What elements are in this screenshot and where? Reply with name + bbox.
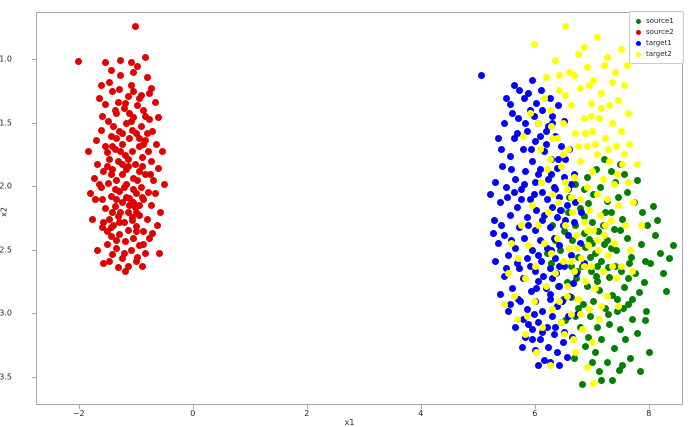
data-point <box>159 148 166 155</box>
y-tick-mark <box>32 186 36 187</box>
data-point <box>498 222 505 229</box>
data-point <box>515 115 522 122</box>
data-point <box>106 156 113 163</box>
data-point <box>138 184 145 191</box>
data-point <box>539 189 546 196</box>
data-point <box>608 217 615 224</box>
data-point <box>604 359 611 366</box>
legend-item-target2[interactable]: target2 <box>633 49 680 59</box>
data-point <box>573 232 580 239</box>
y-tick-label: −3.0 <box>0 309 12 318</box>
data-point <box>641 279 648 286</box>
data-point <box>537 133 544 140</box>
data-point <box>126 135 133 142</box>
x-tick-label: −2 <box>73 409 85 418</box>
data-point <box>609 120 616 127</box>
data-point <box>594 34 601 41</box>
data-point <box>660 270 667 277</box>
y-tick-label: −1.0 <box>0 55 12 64</box>
data-point <box>543 283 550 290</box>
y-tick-label: −3.5 <box>0 373 12 382</box>
data-point <box>512 324 519 331</box>
data-point <box>145 189 152 196</box>
data-point <box>625 179 632 186</box>
data-point <box>581 44 588 51</box>
data-point <box>581 219 588 226</box>
data-point <box>121 184 128 191</box>
data-point <box>98 82 105 89</box>
data-point <box>652 232 659 239</box>
data-point <box>612 69 619 76</box>
data-point <box>618 263 625 270</box>
data-point <box>611 345 618 352</box>
data-point <box>104 163 111 170</box>
legend-marker-icon <box>636 30 641 35</box>
data-point <box>579 381 586 388</box>
data-point <box>528 146 535 153</box>
data-point <box>594 237 601 244</box>
data-point <box>155 165 162 172</box>
data-point <box>104 149 111 156</box>
data-point <box>537 336 544 343</box>
data-point <box>539 308 546 315</box>
data-point <box>564 293 571 300</box>
data-point <box>566 245 573 252</box>
data-point <box>571 268 578 275</box>
data-point <box>554 214 561 221</box>
data-point <box>636 289 643 296</box>
data-point <box>562 179 569 186</box>
data-point <box>122 268 129 275</box>
data-point <box>622 222 629 229</box>
data-point <box>617 326 624 333</box>
data-point <box>614 296 621 303</box>
scatter-plot-axes <box>36 12 683 405</box>
data-point <box>541 240 548 247</box>
data-point <box>558 163 565 170</box>
data-point <box>605 311 612 318</box>
data-point <box>128 247 135 254</box>
x-tick-mark <box>79 405 80 409</box>
data-point <box>595 247 602 254</box>
data-point <box>152 190 159 197</box>
data-point <box>543 141 550 148</box>
data-point <box>150 177 157 184</box>
data-point <box>564 186 571 193</box>
data-point <box>609 263 616 270</box>
legend-marker-icon <box>636 52 641 57</box>
data-point <box>560 258 567 265</box>
data-point <box>112 186 119 193</box>
data-point <box>605 252 612 259</box>
x-tick-mark <box>193 405 194 409</box>
data-point <box>611 181 618 188</box>
data-point <box>529 158 536 165</box>
data-point <box>639 209 646 216</box>
data-point <box>132 23 139 30</box>
data-point <box>629 268 636 275</box>
data-point <box>144 216 151 223</box>
data-point <box>508 166 515 173</box>
data-point <box>113 177 120 184</box>
data-point <box>554 349 561 356</box>
data-point <box>588 263 595 270</box>
data-point <box>524 255 531 262</box>
data-point <box>117 57 124 64</box>
data-point <box>125 156 132 163</box>
data-point <box>547 107 554 114</box>
data-point <box>106 79 113 86</box>
data-point <box>609 79 616 86</box>
data-point <box>503 95 510 102</box>
data-point <box>629 316 636 323</box>
data-point <box>529 77 536 84</box>
data-point <box>644 222 651 229</box>
data-point <box>621 82 628 89</box>
data-point <box>518 222 525 229</box>
data-point <box>654 217 661 224</box>
data-point <box>161 181 168 188</box>
data-point <box>514 204 521 211</box>
data-point <box>594 191 601 198</box>
data-point <box>487 191 494 198</box>
data-point <box>564 354 571 361</box>
data-point <box>581 115 588 122</box>
data-point <box>99 113 106 120</box>
data-point <box>575 51 582 58</box>
data-point <box>140 228 147 235</box>
data-point <box>596 115 603 122</box>
data-point <box>505 270 512 277</box>
data-point <box>524 313 531 320</box>
legend-label: target1 <box>646 39 672 47</box>
data-point <box>547 156 554 163</box>
data-point <box>552 324 559 331</box>
data-point <box>119 141 126 148</box>
data-point <box>498 146 505 153</box>
data-point <box>600 176 607 183</box>
data-point <box>552 57 559 64</box>
data-point <box>529 202 536 209</box>
data-point <box>514 316 521 323</box>
data-point <box>565 146 572 153</box>
data-point <box>637 368 644 375</box>
data-point <box>643 308 650 315</box>
legend-item-source1[interactable]: source1 <box>633 16 680 26</box>
data-point <box>108 224 115 231</box>
data-point <box>130 88 137 95</box>
y-tick-mark <box>32 123 36 124</box>
data-point <box>556 283 563 290</box>
data-point <box>571 72 578 79</box>
data-point <box>545 344 552 351</box>
data-point <box>625 275 632 282</box>
data-point <box>535 171 542 178</box>
data-point <box>601 62 608 69</box>
data-point <box>592 349 599 356</box>
data-point <box>541 95 548 102</box>
data-point <box>577 311 584 318</box>
data-point <box>597 212 604 219</box>
data-point <box>155 114 162 121</box>
data-point <box>638 222 645 229</box>
data-point <box>139 154 146 161</box>
data-point <box>606 321 613 328</box>
y-tick-label: −2.5 <box>0 245 12 254</box>
data-point <box>153 141 160 148</box>
data-point <box>509 285 516 292</box>
x-tick-mark <box>535 405 536 409</box>
data-point <box>554 235 561 242</box>
data-point <box>119 161 126 168</box>
data-point <box>105 180 112 187</box>
data-point <box>596 316 603 323</box>
data-point <box>136 202 143 209</box>
data-point <box>98 127 105 134</box>
data-point <box>609 377 616 384</box>
data-point <box>568 311 575 318</box>
data-point <box>627 355 634 362</box>
x-tick-mark <box>307 405 308 409</box>
data-point <box>144 130 151 137</box>
y-axis-label: x2 <box>0 207 9 217</box>
data-point <box>577 85 584 92</box>
data-point <box>540 273 547 280</box>
data-point <box>600 268 607 275</box>
data-point <box>597 184 604 191</box>
data-point <box>614 171 621 178</box>
data-point <box>613 143 620 150</box>
data-point <box>144 74 151 81</box>
data-point <box>521 181 528 188</box>
data-point <box>555 102 562 109</box>
data-point <box>522 168 529 175</box>
data-point <box>507 153 514 160</box>
data-point <box>129 214 136 221</box>
data-point <box>627 247 634 254</box>
data-point <box>606 102 613 109</box>
data-point <box>154 222 161 229</box>
data-point <box>590 298 597 305</box>
data-point <box>638 241 645 248</box>
chart-legend[interactable]: source1source2target1target2 <box>629 11 684 64</box>
data-point <box>128 59 135 66</box>
data-point <box>503 184 510 191</box>
y-tick-mark <box>32 59 36 60</box>
legend-label: source2 <box>646 28 674 36</box>
legend-marker-icon <box>636 19 641 24</box>
data-point <box>85 148 92 155</box>
data-point <box>579 326 586 333</box>
data-point <box>538 87 545 94</box>
data-point <box>560 339 567 346</box>
data-point <box>524 306 531 313</box>
data-point <box>626 260 633 267</box>
data-point <box>578 209 585 216</box>
data-point <box>548 123 555 130</box>
data-point <box>501 232 508 239</box>
data-point <box>522 275 529 282</box>
data-point <box>100 219 107 226</box>
data-point <box>571 355 578 362</box>
data-point <box>584 227 591 234</box>
data-point <box>492 179 499 186</box>
data-point <box>588 100 595 107</box>
data-point <box>149 230 156 237</box>
data-point <box>606 158 613 165</box>
data-point <box>148 202 155 209</box>
data-point <box>117 72 124 79</box>
data-point <box>608 209 615 216</box>
data-point <box>499 163 506 170</box>
data-point <box>598 377 605 384</box>
data-point <box>562 92 569 99</box>
data-point <box>562 23 569 30</box>
data-point <box>511 293 518 300</box>
data-point <box>621 284 628 291</box>
data-point <box>570 336 577 343</box>
data-point <box>121 250 128 257</box>
data-point <box>586 306 593 313</box>
data-point <box>624 235 631 242</box>
data-point <box>581 263 588 270</box>
data-point <box>531 311 538 318</box>
data-point <box>495 135 502 142</box>
data-point <box>125 93 132 100</box>
data-point <box>147 171 154 178</box>
data-point <box>601 232 608 239</box>
data-point <box>568 258 575 265</box>
data-point <box>646 349 653 356</box>
data-point <box>604 54 611 61</box>
data-point <box>157 209 164 216</box>
data-point <box>129 127 136 134</box>
data-point <box>582 130 589 137</box>
data-point <box>139 194 146 201</box>
data-point <box>596 368 603 375</box>
data-point <box>575 143 582 150</box>
x-axis-label: x1 <box>0 418 699 427</box>
data-point <box>543 74 550 81</box>
data-point <box>117 209 124 216</box>
data-point <box>589 168 596 175</box>
data-point <box>589 339 596 346</box>
data-point <box>491 217 498 224</box>
data-point <box>531 41 538 48</box>
data-point <box>621 171 628 178</box>
data-point <box>598 90 605 97</box>
data-point <box>586 207 593 214</box>
data-point <box>517 298 524 305</box>
x-tick-label: 2 <box>304 409 309 418</box>
legend-marker-icon <box>636 41 641 46</box>
data-point <box>572 349 579 356</box>
data-point <box>504 194 511 201</box>
data-point <box>138 92 145 99</box>
data-point <box>87 190 94 197</box>
data-point <box>619 362 626 369</box>
data-point <box>108 67 115 74</box>
data-point <box>564 283 571 290</box>
data-point <box>625 110 632 117</box>
legend-item-target1[interactable]: target1 <box>633 38 680 48</box>
x-tick-label: 8 <box>646 409 651 418</box>
data-point <box>615 194 622 201</box>
data-point <box>544 196 551 203</box>
data-point <box>501 120 508 127</box>
data-point <box>584 143 591 150</box>
data-point <box>527 110 534 117</box>
data-point <box>535 120 542 127</box>
data-point <box>557 207 564 214</box>
data-point <box>547 291 554 298</box>
data-point <box>535 362 542 369</box>
legend-label: target2 <box>646 50 672 58</box>
data-point <box>663 288 670 295</box>
data-point <box>156 250 163 257</box>
data-point <box>549 313 556 320</box>
data-point <box>505 252 512 259</box>
data-point <box>624 189 631 196</box>
data-point <box>529 336 536 343</box>
data-point <box>125 227 132 234</box>
data-point <box>490 230 497 237</box>
data-point <box>564 202 571 209</box>
data-point <box>538 179 545 186</box>
data-point <box>594 324 601 331</box>
data-point <box>551 331 558 338</box>
data-point <box>611 240 618 247</box>
data-point <box>578 255 585 262</box>
x-tick-label: 6 <box>532 409 537 418</box>
legend-item-source2[interactable]: source2 <box>633 27 680 37</box>
data-point <box>670 242 677 249</box>
data-point <box>145 148 152 155</box>
data-point <box>507 301 514 308</box>
data-point <box>634 330 641 337</box>
data-point <box>537 146 544 153</box>
data-point <box>130 69 137 76</box>
data-point <box>123 194 130 201</box>
data-point <box>666 255 673 262</box>
data-point <box>554 135 561 142</box>
data-point <box>142 54 149 61</box>
data-point <box>602 135 609 142</box>
data-point <box>577 158 584 165</box>
data-point <box>584 184 591 191</box>
data-point <box>148 158 155 165</box>
data-point <box>519 344 526 351</box>
data-point <box>134 254 141 261</box>
data-point <box>568 194 575 201</box>
data-point <box>113 237 120 244</box>
data-point <box>146 90 153 97</box>
data-point <box>142 113 149 120</box>
data-point <box>657 250 664 257</box>
data-point <box>142 250 149 257</box>
data-point <box>592 141 599 148</box>
data-point <box>516 87 523 94</box>
data-point <box>130 235 137 242</box>
data-point <box>539 324 546 331</box>
x-tick-mark <box>649 405 650 409</box>
data-point <box>115 264 122 271</box>
data-point <box>133 228 140 235</box>
data-point <box>128 118 135 125</box>
data-point <box>138 123 145 130</box>
data-point <box>518 196 525 203</box>
data-point <box>560 151 567 158</box>
